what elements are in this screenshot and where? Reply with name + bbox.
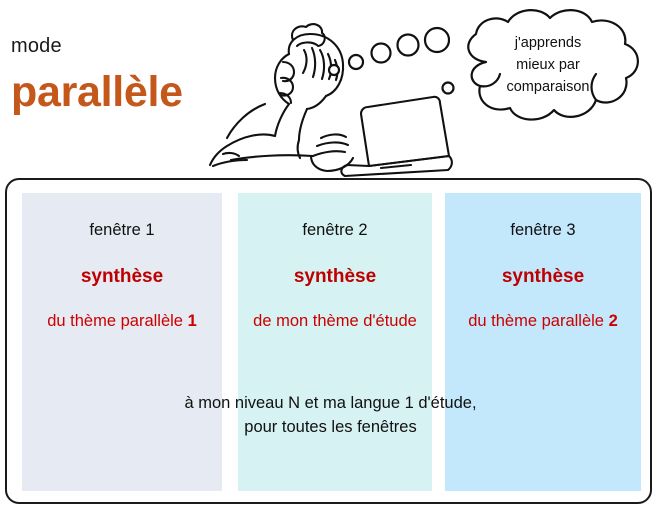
panel-2-detail-line-2: d'étude: [363, 312, 417, 330]
panel-1-detail-line-2: 1: [188, 312, 197, 330]
panel-fenetre-1[interactable]: fenêtre 1 synthèse du thème parallèle 1: [22, 193, 222, 491]
panel-1-detail: du thème parallèle 1: [22, 311, 222, 333]
panel-1-synthese-label: synthèse: [22, 266, 222, 289]
mode-label: mode: [11, 36, 62, 56]
panel-fenetre-2[interactable]: fenêtre 2 synthèse de mon thème d'étude: [238, 193, 432, 491]
panel-2-detail: de mon thème d'étude: [238, 311, 432, 333]
panels-container: fenêtre 1 synthèse du thème parallèle 1 …: [5, 178, 652, 504]
panel-3-detail: du thème parallèle 2: [445, 311, 641, 333]
thought-bubble-text: j'apprends mieux par comparaison: [458, 32, 638, 98]
panel-fenetre-3[interactable]: fenêtre 3 synthèse du thème parallèle 2: [445, 193, 641, 491]
panel-2-synthese-label: synthèse: [238, 266, 432, 289]
panel-2-body: fenêtre 2 synthèse de mon thème d'étude: [238, 221, 432, 332]
panel-3-synthese-label: synthèse: [445, 266, 641, 289]
panel-3-window-label: fenêtre 3: [445, 221, 641, 241]
header-area: mode parallèle: [0, 0, 657, 178]
thought-line-1: j'apprends: [458, 32, 638, 54]
panel-3-detail-line-2: 2: [609, 312, 618, 330]
panel-3-detail-line-1: du thème parallèle: [468, 312, 604, 330]
panel-2-detail-line-1: de mon thème: [253, 312, 358, 330]
mode-value: parallèle: [11, 70, 183, 115]
panels-row: fenêtre 1 synthèse du thème parallèle 1 …: [7, 180, 654, 506]
panel-2-window-label: fenêtre 2: [238, 221, 432, 241]
panel-1-window-label: fenêtre 1: [22, 221, 222, 241]
thought-line-3: comparaison: [458, 76, 638, 98]
thought-bubble: j'apprends mieux par comparaison: [438, 4, 657, 149]
thought-line-2: mieux par: [458, 54, 638, 76]
thought-dots: [320, 18, 450, 88]
panel-1-body: fenêtre 1 synthèse du thème parallèle 1: [22, 221, 222, 332]
panel-1-detail-line-1: du thème parallèle: [47, 312, 183, 330]
panel-3-body: fenêtre 3 synthèse du thème parallèle 2: [445, 221, 641, 332]
